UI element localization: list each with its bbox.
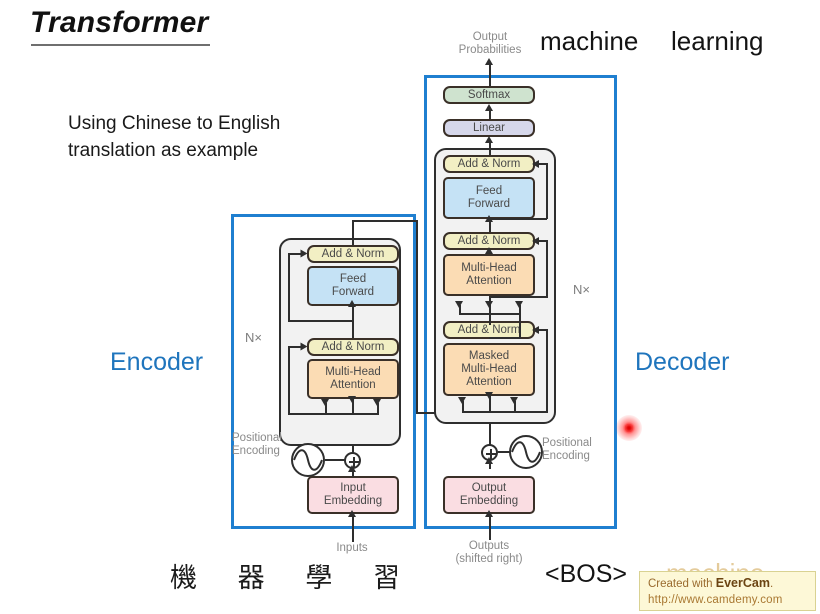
decoder-output-prob-line-2: Probabilities	[450, 44, 530, 57]
annotation-word-machine: machine	[540, 26, 638, 57]
encoder-multi-head-attention: Multi-Head Attention	[307, 359, 399, 399]
decoder-masked-line-3: Attention	[466, 376, 511, 389]
encoder-arrow-residual-ff	[301, 249, 308, 257]
decoder-feed-forward-line-2: Forward	[468, 198, 510, 211]
encoder-add-norm-bottom: Add & Norm	[307, 338, 399, 356]
encoder-mha-line-1: Multi-Head	[325, 366, 381, 379]
encoder-residual-attn-vert	[288, 347, 290, 415]
encoder-add-norm-top: Add & Norm	[307, 245, 399, 263]
decoder-embedding-line-1: Output	[472, 482, 507, 495]
decoder-arrow-embed-to-sum	[485, 457, 493, 464]
source-token-3: 學	[305, 556, 332, 595]
decoder-masked-qkv-bus	[462, 411, 516, 413]
encoder-mha-line-2: Attention	[330, 379, 375, 392]
decoder-output-probabilities-label: Output Probabilities	[450, 31, 530, 57]
encoder-label: Encoder	[110, 348, 203, 377]
decoder-feed-forward: Feed Forward	[443, 177, 535, 219]
decoder-softmax: Softmax	[443, 86, 535, 104]
encoder-input-embedding: Input Embedding	[307, 476, 399, 514]
source-token-row: 機 器 學 習	[170, 556, 400, 595]
encoder-embedding-line-1: Input	[340, 482, 366, 495]
decoder-cross-q-from-below	[519, 313, 521, 339]
watermark-url: http://www.camdemy.com	[648, 592, 809, 608]
decoder-input-line	[489, 514, 491, 540]
decoder-mha-line-1: Multi-Head	[461, 262, 517, 275]
laser-pointer-dot	[625, 424, 633, 432]
decoder-pe-line-2: Encoding	[542, 450, 618, 463]
encoder-arrow-qkv-center	[348, 396, 356, 403]
decoder-add-norm-top: Add & Norm	[443, 155, 535, 173]
decoder-output-prob-line-1: Output	[450, 31, 530, 44]
encoder-qkv-bus	[325, 413, 379, 415]
decoder-feed-forward-line-1: Feed	[476, 185, 502, 198]
encoder-nx-label: N×	[245, 330, 262, 345]
source-token-4: 習	[373, 556, 400, 595]
encoder-feed-forward-line-2: Forward	[332, 286, 374, 299]
decoder-arrow-cross-v	[515, 301, 523, 308]
decoder-masked-line-2: Multi-Head	[461, 363, 517, 376]
decoder-arrow-masked-left	[458, 397, 466, 404]
slide-note-line-1: Using Chinese to English	[68, 110, 368, 137]
page-title: Transformer	[30, 6, 208, 40]
encoder-out-bus-top	[352, 220, 418, 222]
encoder-arrow-to-ff	[348, 300, 356, 307]
watermark-prefix: Created with	[648, 578, 716, 590]
encoder-arrow-qkv-right	[373, 399, 381, 406]
encoder-input-line	[352, 514, 354, 542]
decoder-residual-ff-vert	[546, 163, 548, 219]
encoder-arrow-qkv-left	[321, 399, 329, 406]
decoder-arrow-residual-cross	[532, 237, 539, 245]
decoder-residual-masked-vert	[546, 329, 548, 413]
decoder-arrow-to-linear	[485, 136, 493, 143]
encoder-pe-line-1: Positional	[232, 432, 302, 445]
decoder-masked-attention: Masked Multi-Head Attention	[443, 343, 535, 396]
slide-canvas: Transformer Using Chinese to English tra…	[0, 0, 820, 614]
bos-token: <BOS>	[545, 560, 627, 589]
encoder-arrow-input	[348, 510, 356, 517]
decoder-arrow-cross-q	[485, 301, 493, 308]
encoder-arrow-residual-attn	[301, 342, 308, 350]
annotation-word-learning: learning	[671, 26, 764, 57]
encoder-pe-connector	[325, 459, 345, 461]
slide-note-line-2: translation as example	[68, 137, 368, 164]
watermark-suffix: .	[770, 578, 773, 590]
decoder-arrow-residual-ff	[532, 160, 539, 168]
decoder-cross-q-line	[489, 305, 491, 325]
decoder-residual-cross-vert	[546, 240, 548, 298]
encoder-residual-attn-into-addnorm	[288, 346, 301, 348]
decoder-outputs-label: Outputs (shifted right)	[449, 540, 529, 566]
encoder-residual-ff-into-addnorm	[288, 253, 301, 255]
encoder-feed-forward-line-1: Feed	[340, 273, 366, 286]
decoder-mha-line-2: Attention	[466, 275, 511, 288]
decoder-arrow-residual-masked	[532, 326, 539, 334]
decoder-output-embedding: Output Embedding	[443, 476, 535, 514]
watermark-brand: EverCam	[716, 576, 770, 590]
decoder-pe-connector	[498, 451, 511, 453]
decoder-arrow-output	[485, 58, 493, 65]
decoder-arrow-input	[485, 510, 493, 517]
encoder-pe-line-2: Encoding	[232, 445, 302, 458]
decoder-positional-encoding-icon	[509, 435, 543, 469]
decoder-arrow-cross-up	[485, 247, 493, 254]
encoder-input-label: Inputs	[322, 542, 382, 555]
decoder-arrow-masked-right	[510, 397, 518, 404]
decoder-outputs-line-1: Outputs	[449, 540, 529, 553]
decoder-cross-attention: Multi-Head Attention	[443, 254, 535, 296]
decoder-positional-encoding-label: Positional Encoding	[542, 437, 618, 463]
source-token-1: 機	[170, 556, 197, 595]
decoder-arrow-cross-k	[455, 301, 463, 308]
decoder-residual-ff-horiz	[489, 218, 547, 220]
watermark-line-1: Created with EverCam.	[648, 575, 809, 592]
decoder-arrow-linear-to-softmax	[485, 104, 493, 111]
encoder-arrow-embed-to-sum	[348, 465, 356, 472]
encoder-residual-ff-vert	[288, 254, 290, 322]
decoder-nx-label: N×	[573, 282, 590, 297]
decoder-embedding-line-2: Embedding	[460, 495, 518, 508]
title-underline	[31, 44, 210, 46]
encoder-spine-top	[352, 220, 354, 245]
slide-note: Using Chinese to English translation as …	[68, 110, 368, 164]
decoder-linear: Linear	[443, 119, 535, 137]
encoder-spine-mid	[352, 306, 354, 338]
decoder-masked-line-1: Masked	[469, 350, 509, 363]
encoder-residual-ff-horiz	[288, 320, 352, 322]
encoder-out-bus-vert	[416, 220, 418, 414]
decoder-arrow-masked-center	[485, 392, 493, 399]
evercam-watermark: Created with EverCam. http://www.camdemy…	[639, 571, 816, 611]
encoder-positional-encoding-label: Positional Encoding	[232, 432, 302, 458]
decoder-output-arrow-line	[489, 62, 491, 86]
decoder-pe-line-1: Positional	[542, 437, 618, 450]
source-token-2: 器	[238, 556, 265, 595]
decoder-cross-kv-bus	[459, 313, 520, 315]
decoder-residual-cross-horiz	[489, 296, 547, 298]
encoder-embedding-line-2: Embedding	[324, 495, 382, 508]
decoder-cross-q-bridge	[489, 337, 521, 339]
decoder-label: Decoder	[635, 348, 730, 377]
decoder-outputs-line-2: (shifted right)	[449, 553, 529, 566]
